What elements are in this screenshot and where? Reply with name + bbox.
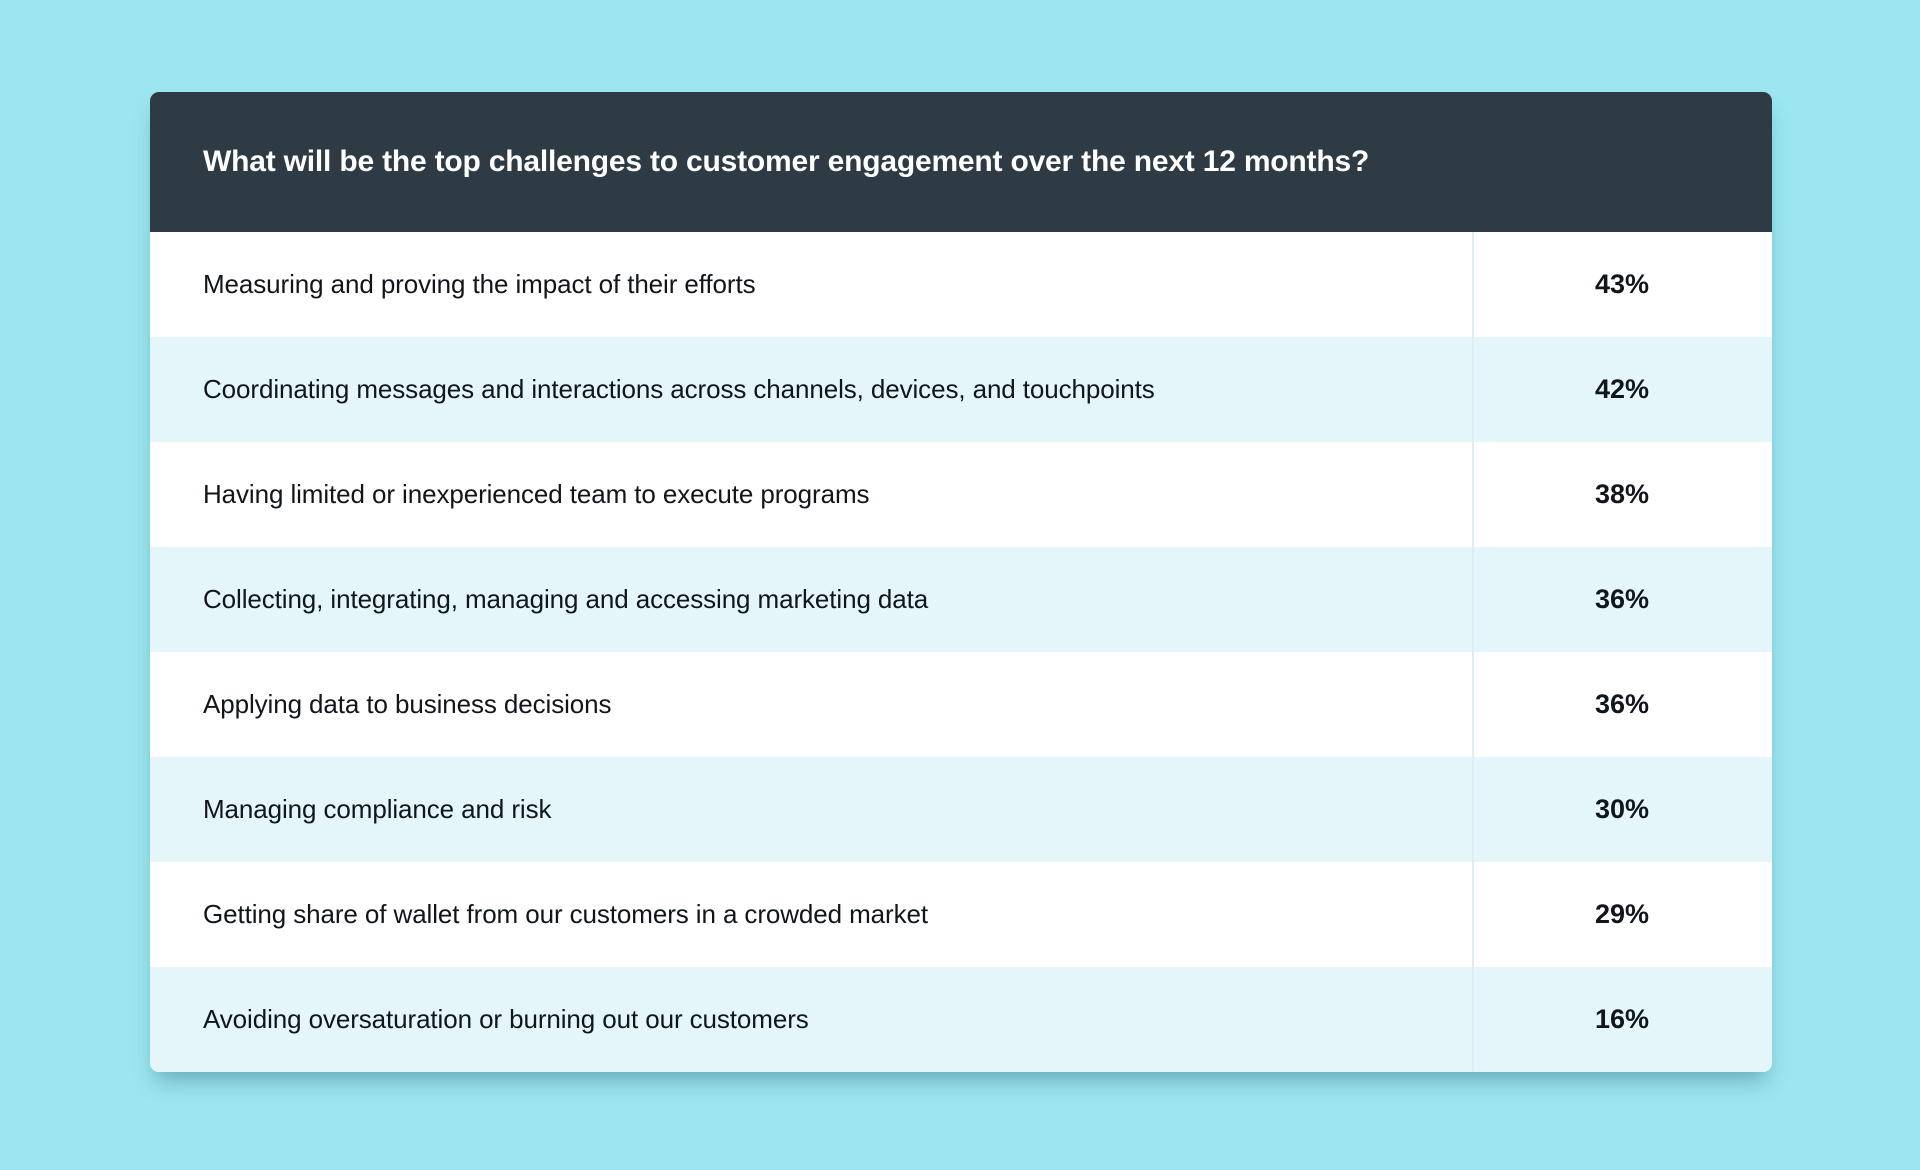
challenge-percent: 29% [1472, 899, 1772, 930]
challenge-label: Measuring and proving the impact of thei… [150, 268, 1472, 301]
page-canvas: What will be the top challenges to custo… [0, 0, 1920, 1170]
challenge-label: Having limited or inexperienced team to … [150, 478, 1472, 511]
table-row: Having limited or inexperienced team to … [150, 442, 1772, 547]
challenge-label: Getting share of wallet from our custome… [150, 898, 1472, 931]
table-row: Coordinating messages and interactions a… [150, 337, 1772, 442]
challenge-percent: 36% [1472, 689, 1772, 720]
challenge-percent: 16% [1472, 1004, 1772, 1035]
challenge-percent: 30% [1472, 794, 1772, 825]
challenge-percent: 42% [1472, 374, 1772, 405]
survey-results-card: What will be the top challenges to custo… [150, 92, 1772, 1072]
table-row: Collecting, integrating, managing and ac… [150, 547, 1772, 652]
challenge-percent: 36% [1472, 584, 1772, 615]
challenge-percent: 38% [1472, 479, 1772, 510]
table-row: Measuring and proving the impact of thei… [150, 232, 1772, 337]
card-header: What will be the top challenges to custo… [150, 92, 1772, 232]
challenge-label: Applying data to business decisions [150, 688, 1472, 721]
table-row: Managing compliance and risk 30% [150, 757, 1772, 862]
table-row: Getting share of wallet from our custome… [150, 862, 1772, 967]
challenge-label: Managing compliance and risk [150, 793, 1472, 826]
challenge-label: Avoiding oversaturation or burning out o… [150, 1003, 1472, 1036]
results-table: Measuring and proving the impact of thei… [150, 232, 1772, 1072]
page-title: What will be the top challenges to custo… [203, 144, 1369, 180]
challenge-label: Coordinating messages and interactions a… [150, 373, 1472, 406]
challenge-percent: 43% [1472, 269, 1772, 300]
table-row: Applying data to business decisions 36% [150, 652, 1772, 757]
table-row: Avoiding oversaturation or burning out o… [150, 967, 1772, 1072]
challenge-label: Collecting, integrating, managing and ac… [150, 583, 1472, 616]
